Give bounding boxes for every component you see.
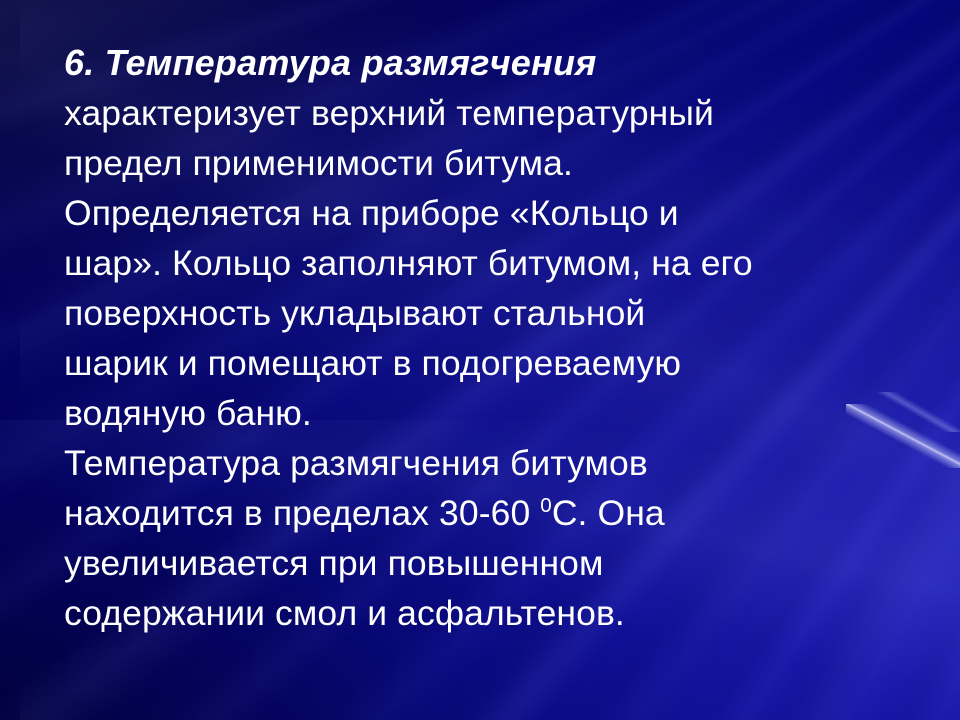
slide-text-line: шар». Кольцо заполняют битумом, на его xyxy=(64,238,920,288)
degree-superscript: 0 xyxy=(540,494,552,517)
slide-text-line: шарик и помещают в подогреваемую xyxy=(64,338,920,388)
slide-text-line: характеризует верхний температурный xyxy=(64,88,920,138)
temperature-suffix: С. Она xyxy=(552,493,665,533)
slide-text-line: водяную баню. xyxy=(64,388,920,438)
slide-text-line: содержании смол и асфальтенов. xyxy=(64,588,920,638)
slide-text-line: Определяется на приборе «Кольцо и xyxy=(64,188,920,238)
slide-text-line: предел применимости битума. xyxy=(64,138,920,188)
slide-text-line: увеличивается при повышенном xyxy=(64,538,920,588)
slide-text-body: 6. Температура размягчения характеризует… xyxy=(64,38,920,638)
temperature-prefix: находится в пределах 30-60 xyxy=(64,493,540,533)
slide-text-line-temperature: находится в пределах 30-60 0С. Она xyxy=(64,488,920,538)
slide-heading: 6. Температура размягчения xyxy=(64,38,920,88)
slide-canvas: 6. Температура размягчения характеризует… xyxy=(0,0,960,720)
slide-text-line: Температура размягчения битумов xyxy=(64,438,920,488)
slide-text-line: поверхность укладывают стальной xyxy=(64,288,920,338)
